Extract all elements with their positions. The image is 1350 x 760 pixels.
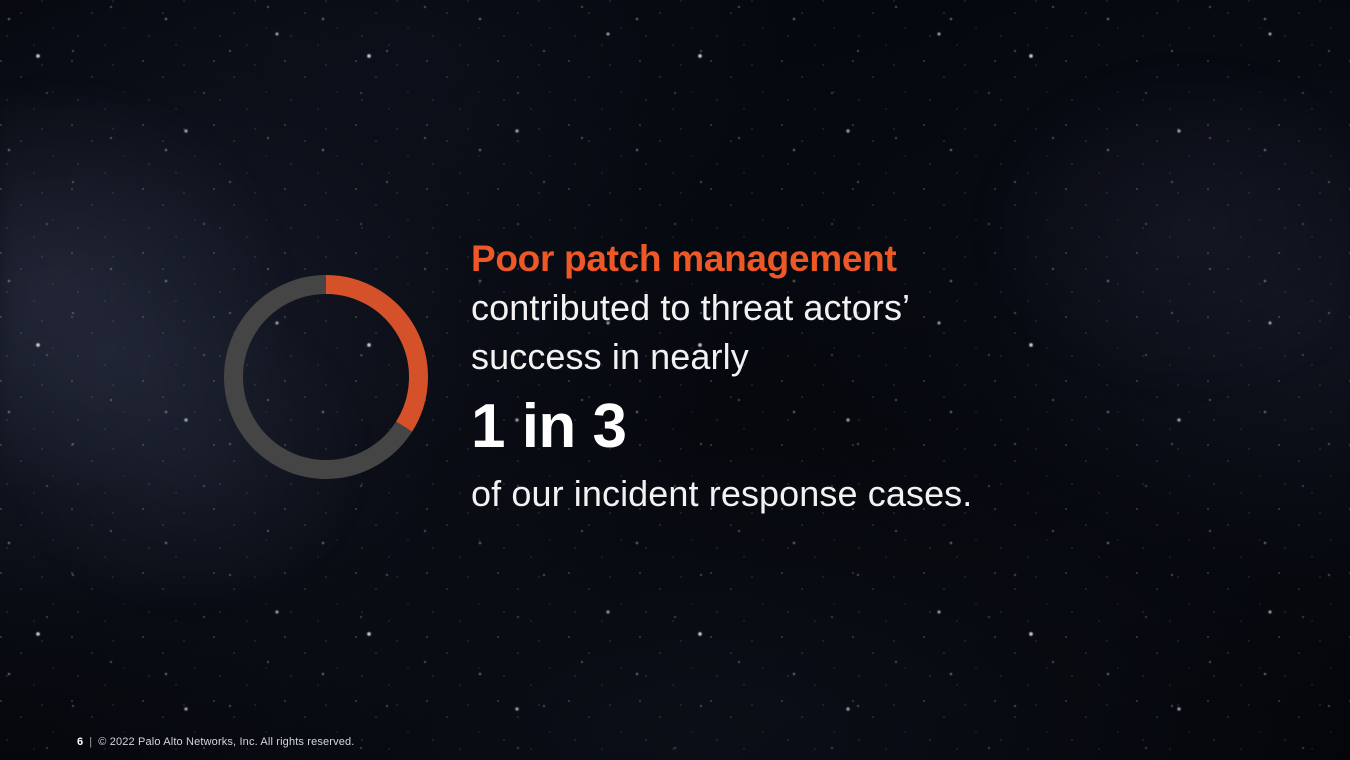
slide-canvas: Poor patch management contributed to thr… [0,0,1350,760]
copyright-notice: © 2022 Palo Alto Networks, Inc. All righ… [98,736,354,748]
body-line-1: contributed to threat actors’ [471,283,1091,332]
page-number: 6 [77,736,83,748]
headline-accent-line: Poor patch management [471,234,1091,283]
footer: 6 | © 2022 Palo Alto Networks, Inc. All … [77,736,354,748]
donut-chart [224,275,428,479]
statement-text-block: Poor patch management contributed to thr… [471,234,1091,517]
footer-separator: | [89,736,92,748]
body-line-2: success in nearly [471,332,1091,381]
donut-segment-poor-patch-management [326,285,418,427]
closing-line: of our incident response cases. [471,471,1091,517]
stat-value: 1 in 3 [471,387,1091,467]
